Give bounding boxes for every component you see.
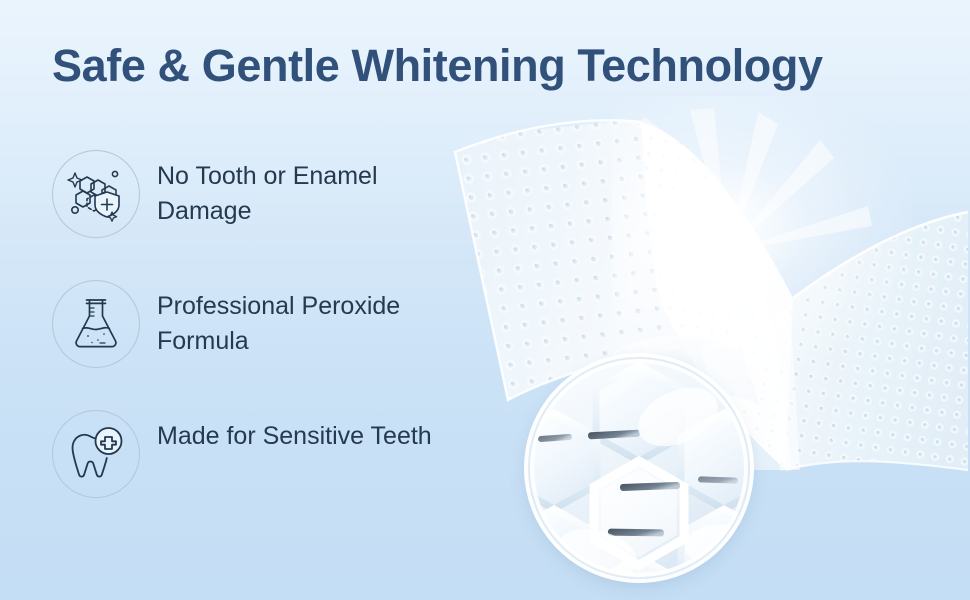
light-burst-glow: [612, 96, 912, 376]
whitening-technology-banner: Safe & Gentle Whitening Technology: [0, 0, 970, 600]
feature-label: Professional Peroxide Formula: [157, 289, 432, 359]
feature-item-no-tooth-or-enamel-damage: No Tooth or Enamel Damage: [52, 148, 452, 278]
feature-item-professional-peroxide-formula: Professional Peroxide Formula: [52, 278, 452, 408]
tooth-plus-icon: [52, 410, 140, 498]
flask-icon: [52, 280, 140, 368]
honeycomb-shield-icon: [52, 150, 140, 238]
page-title: Safe & Gentle Whitening Technology: [52, 36, 932, 96]
feature-label: No Tooth or Enamel Damage: [157, 159, 432, 229]
feature-item-made-for-sensitive-teeth: Made for Sensitive Teeth: [52, 408, 452, 538]
feature-label: Made for Sensitive Teeth: [157, 419, 432, 454]
hexagonal-gel-magnifier: [528, 357, 750, 579]
feature-list: No Tooth or Enamel Damage: [52, 148, 452, 538]
